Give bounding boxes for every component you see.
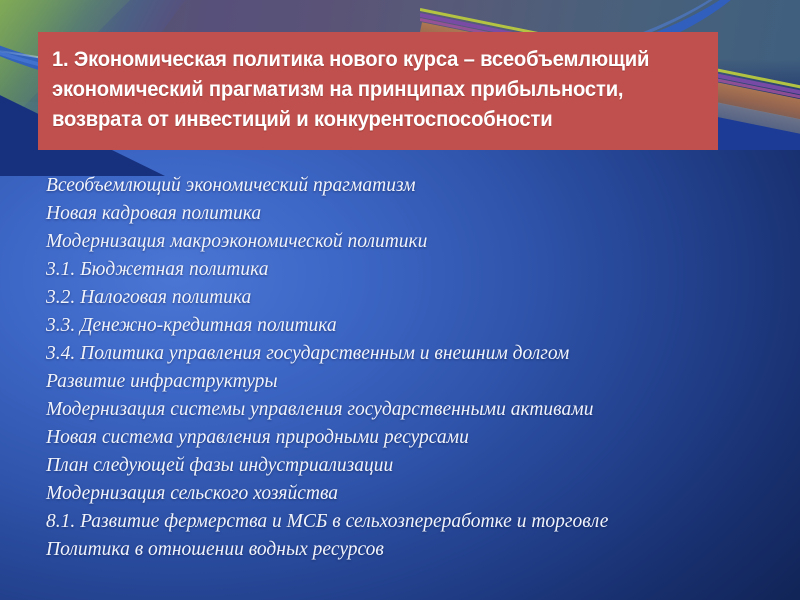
slide-content-list: Всеобъемлющий экономический прагматизмНо…	[46, 172, 766, 564]
list-item: Модернизация системы управления государс…	[46, 396, 766, 424]
list-item: Модернизация сельского хозяйства	[46, 480, 766, 508]
list-item: Развитие инфраструктуры	[46, 368, 766, 396]
list-item: План следующей фазы индустриализации	[46, 452, 766, 480]
list-item: 3.1. Бюджетная политика	[46, 256, 766, 284]
list-item: 3.4. Политика управления государственным…	[46, 340, 766, 368]
list-item: 3.2. Налоговая политика	[46, 284, 766, 312]
list-item: Новая система управления природными ресу…	[46, 424, 766, 452]
list-item: 3.3. Денежно-кредитная политика	[46, 312, 766, 340]
slide-title-box: 1. Экономическая политика нового курса –…	[38, 32, 718, 150]
slide-title: 1. Экономическая политика нового курса –…	[52, 44, 665, 134]
list-item: Модернизация макроэкономической политики	[46, 228, 766, 256]
list-item: 8.1. Развитие фермерства и МСБ в сельхоз…	[46, 508, 766, 536]
list-item: Политика в отношении водных ресурсов	[46, 536, 766, 564]
presentation-slide: 1. Экономическая политика нового курса –…	[0, 0, 800, 600]
list-item: Всеобъемлющий экономический прагматизм	[46, 172, 766, 200]
list-item: Новая кадровая политика	[46, 200, 766, 228]
